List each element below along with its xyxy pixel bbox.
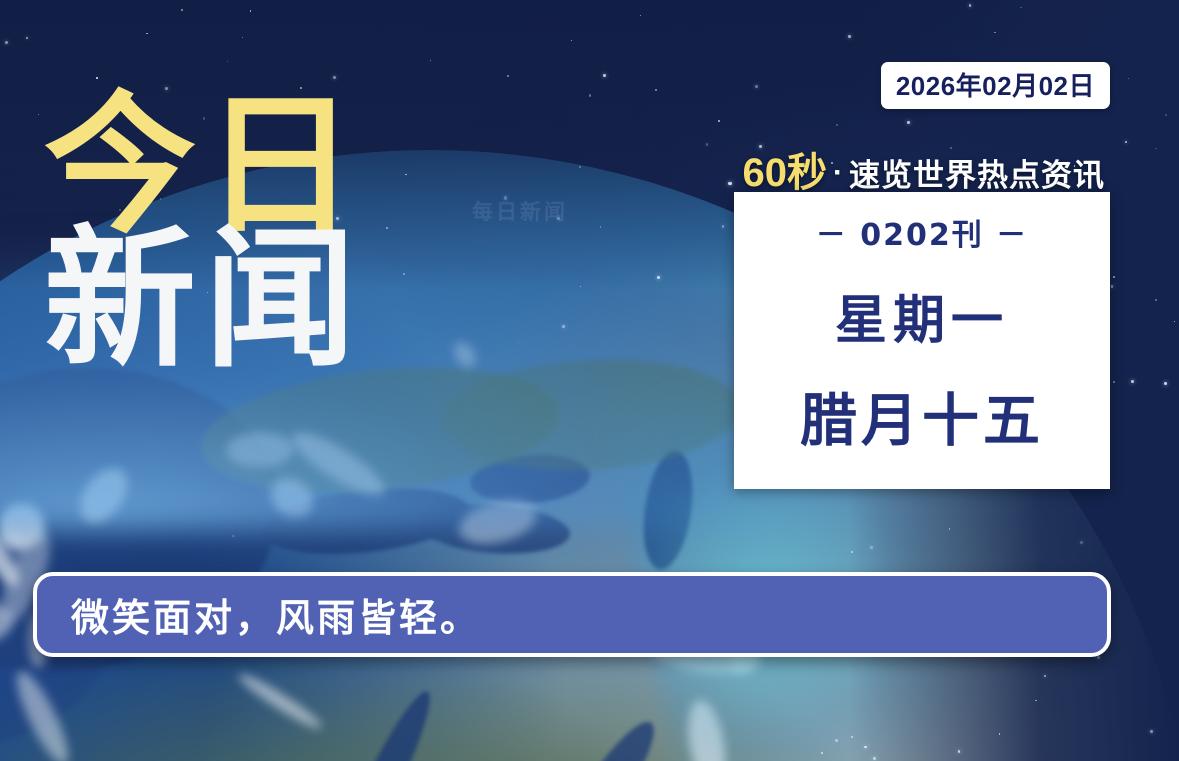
watermark-text: 每日新闻 xyxy=(472,196,568,226)
info-card: － 0202刊 － 星期一 腊月十五 xyxy=(734,192,1110,489)
tagline-highlight: 60秒 xyxy=(743,151,828,195)
poster-canvas: 今日 新闻 每日新闻 2026年02月02日 60秒·速览世界热点资讯 － 02… xyxy=(0,0,1179,761)
tagline-separator: · xyxy=(827,156,849,189)
lunar-date-label: 腊月十五 xyxy=(800,375,1044,457)
tagline-rest: 速览世界热点资讯 xyxy=(849,158,1105,193)
tagline: 60秒·速览世界热点资讯 xyxy=(743,140,1106,198)
title-line-2: 新闻 xyxy=(44,230,514,370)
date-badge: 2026年02月02日 xyxy=(881,62,1110,109)
issue-number: － 0202刊 － xyxy=(816,210,1028,254)
quote-banner: 微笑面对，风雨皆轻。 xyxy=(33,572,1111,657)
poster-title: 今日 新闻 xyxy=(44,96,514,370)
quote-text: 微笑面对，风雨皆轻。 xyxy=(37,587,481,642)
weekday-label: 星期一 xyxy=(835,278,1009,353)
